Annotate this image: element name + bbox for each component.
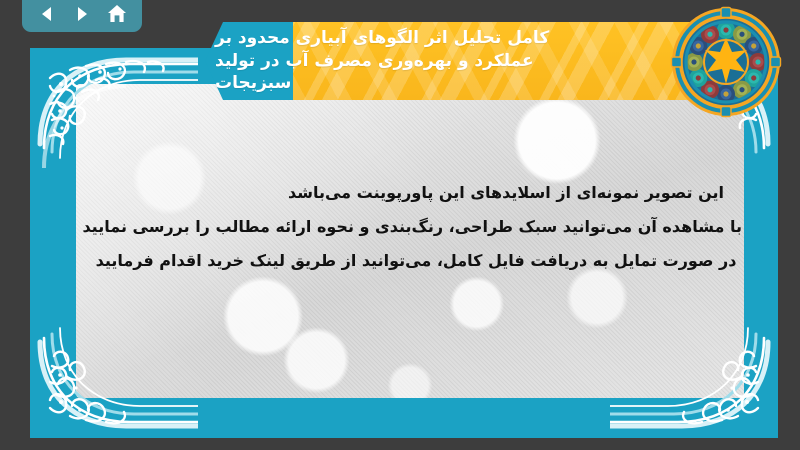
presentation-viewer: این تصویر نمونه‌ای از اسلایدهای این پاور… (0, 0, 800, 450)
slide-title: کامل تحلیل اثر الگوهای آبیاری محدود بر ع… (205, 22, 750, 100)
body-line-3: در صورت تمایل به دریافت فایل کامل، می‌تو… (90, 244, 742, 278)
home-icon[interactable] (104, 1, 130, 27)
slide-navigation-bar (22, 0, 142, 32)
slide-title-banner: کامل تحلیل اثر الگوهای آبیاری محدود بر ع… (205, 22, 750, 100)
title-line-2: عملکرد و بهره‌وری مصرف آب در تولید (215, 50, 534, 72)
slide-frame: این تصویر نمونه‌ای از اسلایدهای این پاور… (30, 48, 778, 438)
next-arrow-icon[interactable] (69, 1, 95, 27)
title-line-1: کامل تحلیل اثر الگوهای آبیاری محدود بر (215, 27, 549, 49)
persian-mandala-ornament-icon (670, 6, 782, 118)
slide-body-text: این تصویر نمونه‌ای از اسلایدهای این پاور… (90, 176, 742, 278)
body-line-2: با مشاهده آن می‌توانید سبک طراحی، رنگ‌بن… (90, 210, 742, 244)
body-line-1: این تصویر نمونه‌ای از اسلایدهای این پاور… (90, 176, 742, 210)
prev-arrow-icon[interactable] (34, 1, 60, 27)
title-line-3: سبزیجات (215, 72, 291, 94)
